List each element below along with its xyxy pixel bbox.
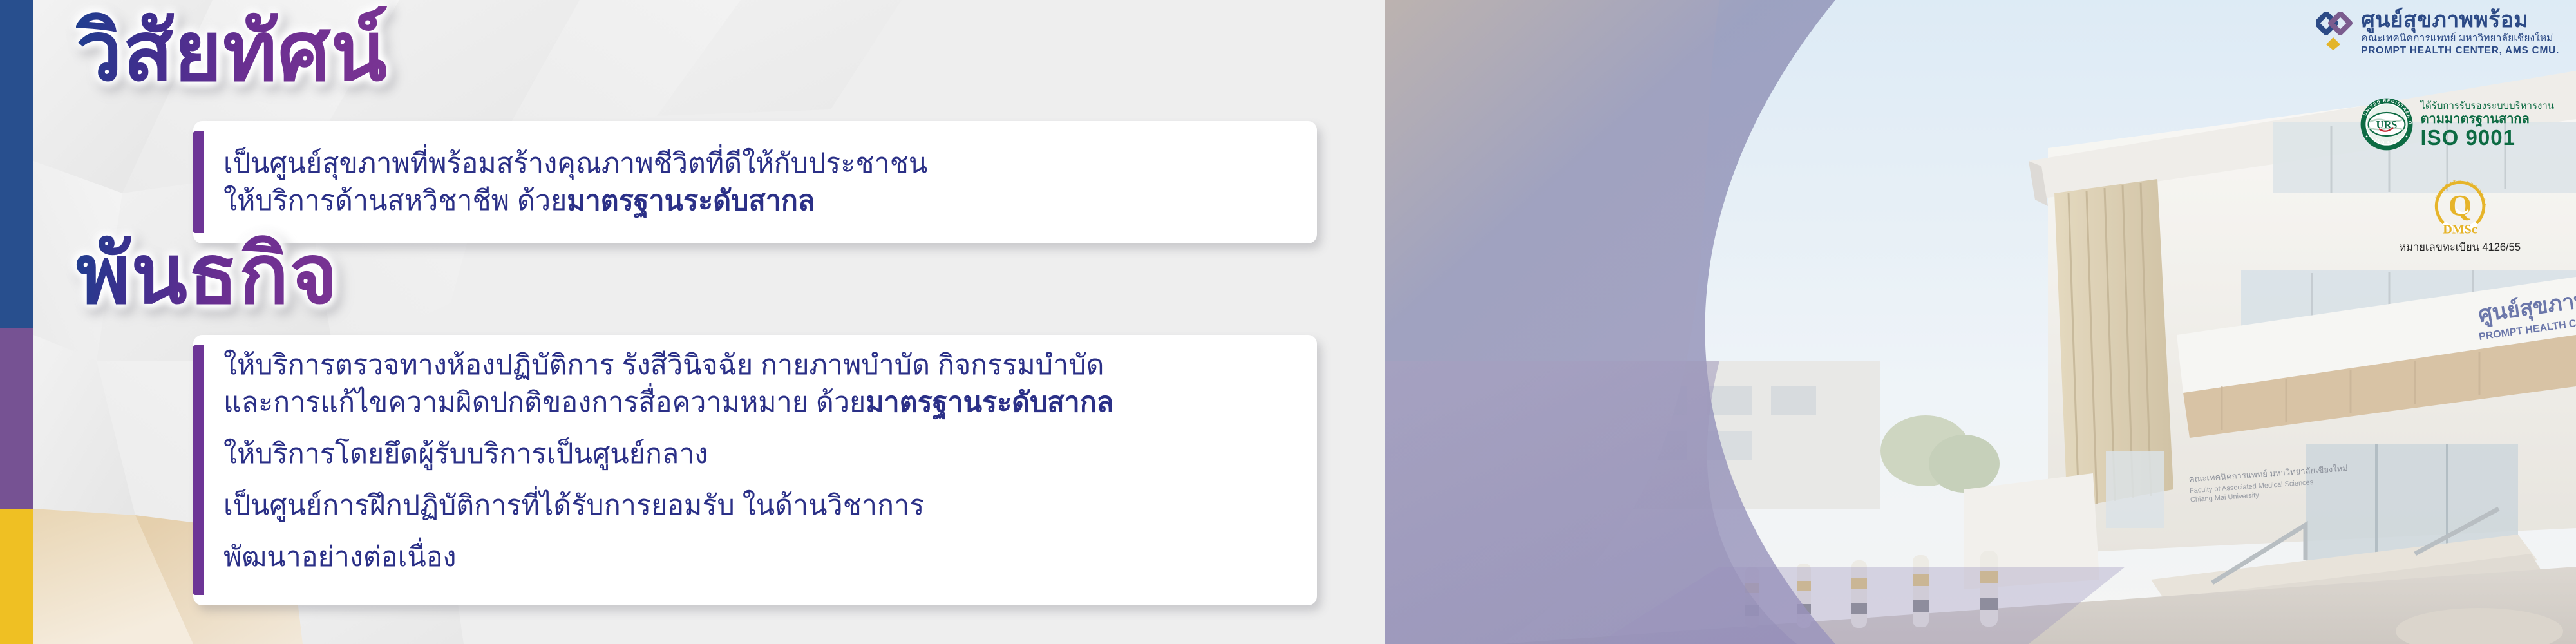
mission-item-4: พัฒนาอย่างต่อเนื่อง — [223, 538, 1298, 576]
logo-text-block: ศูนย์สุขภาพพร้อม คณะเทคนิคการแพทย์ มหาวิ… — [2361, 8, 2559, 57]
iso-9001-badge: URS UNITED REGISTRAR OF SYSTEMS ISO 9001… — [2359, 97, 2555, 152]
vision-line-1-text: เป็นศูนย์สุขภาพที่พร้อมสร้างคุณภาพชีวิตท… — [223, 148, 927, 179]
q-badge-registration-number: หมายเลขทะเบียน 4126/55 — [2399, 239, 2521, 256]
vision-line-2: ให้บริการด้านสหวิชาชีพ ด้วยมาตรฐานระดับส… — [223, 182, 1298, 220]
vision-card: เป็นศูนย์สุขภาพที่พร้อมสร้างคุณภาพชีวิตท… — [193, 121, 1317, 243]
vision-line-2-emphasis: มาตรฐานระดับสากล — [567, 185, 815, 216]
mission-item-1-line-2-text: และการแก้ไขความผิดปกติของการสื่อความหมาย… — [223, 387, 866, 418]
svg-text:DMSc: DMSc — [2443, 222, 2477, 236]
mission-item-1-line-1: ให้บริการตรวจทางห้องปฏิบัติการ รังสีวินิ… — [223, 346, 1298, 384]
iso-badge-line-2: ตามมาตรฐานสากล — [2421, 112, 2530, 127]
q-mark-badge: Q QUALITY ASSURANCE DMSc หมายเลขทะเบียน … — [2399, 175, 2521, 256]
urs-iso-seal-icon: URS UNITED REGISTRAR OF SYSTEMS ISO 9001 — [2359, 97, 2414, 152]
mission-item-2: ให้บริการโดยยึดผู้รับบริการเป็นศูนย์กลาง — [223, 435, 1298, 473]
left-edge-color-stripe — [0, 0, 33, 644]
mission-card: ให้บริการตรวจทางห้องปฏิบัติการ รังสีวินิ… — [193, 335, 1317, 605]
iso-badge-text: ได้รับการรับรองระบบบริหารงาน ตามมาตรฐานส… — [2421, 100, 2555, 149]
q-dmsc-seal-icon: Q QUALITY ASSURANCE DMSc — [2429, 175, 2491, 237]
logo-title: ศูนย์สุขภาพพร้อม — [2361, 8, 2559, 32]
iso-badge-line-1: ได้รับการรับรองระบบบริหารงาน — [2421, 100, 2555, 112]
mission-card-accent-bar — [193, 345, 204, 595]
page-title-mission: พันธกิจ — [76, 227, 339, 323]
iso-badge-line-3: ISO 9001 — [2421, 127, 2515, 149]
mission-item-3: เป็นศูนย์การฝึกปฏิบัติการที่ได้รับการยอม… — [223, 487, 1298, 524]
stripe-segment-gold — [0, 509, 33, 644]
diamond-logo-icon — [2316, 12, 2353, 52]
mission-item-1-line-2: และการแก้ไขความผิดปกติของการสื่อความหมาย… — [223, 384, 1298, 421]
vision-card-body: เป็นศูนย์สุขภาพที่พร้อมสร้างคุณภาพชีวิตท… — [204, 121, 1317, 243]
logo-subtitle-th: คณะเทคนิคการแพทย์ มหาวิทยาลัยเชียงใหม่ — [2361, 32, 2559, 44]
vision-line-1: เป็นศูนย์สุขภาพที่พร้อมสร้างคุณภาพชีวิตท… — [223, 145, 1298, 182]
vision-line-2-text: ให้บริการด้านสหวิชาชีพ ด้วย — [223, 185, 567, 216]
vision-card-accent-bar — [193, 131, 204, 233]
page-title-vision: วิสัยทัศน์ — [76, 4, 388, 100]
mission-card-body: ให้บริการตรวจทางห้องปฏิบัติการ รังสีวินิ… — [204, 335, 1317, 605]
vision-mission-banner: ศูนย์สุขภาพพร้อม PROMPT HEALTH CENTER — [0, 0, 2576, 644]
svg-text:Q: Q — [2448, 189, 2472, 222]
stripe-segment-purple — [0, 328, 33, 509]
logo-subtitle-en: PROMPT HEALTH CENTER, AMS CMU. — [2361, 44, 2559, 57]
mission-item-1-emphasis: มาตรฐานระดับสากล — [866, 387, 1113, 418]
mission-item-1: ให้บริการตรวจทางห้องปฏิบัติการ รังสีวินิ… — [223, 346, 1298, 421]
prompt-health-center-logo[interactable]: ศูนย์สุขภาพพร้อม คณะเทคนิคการแพทย์ มหาวิ… — [2316, 8, 2559, 57]
stripe-segment-blue — [0, 0, 33, 328]
